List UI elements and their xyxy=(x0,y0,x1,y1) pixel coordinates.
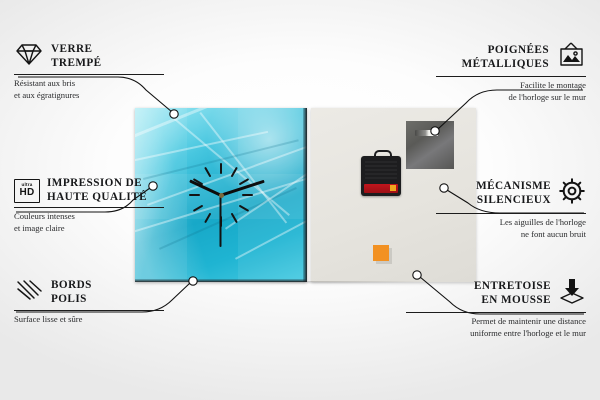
feature-title-line1: VERRE xyxy=(51,43,102,57)
feature-title-line1: MÉCANISME xyxy=(476,180,551,194)
feature-subtitle-line2: de l'horloge sur le mur xyxy=(436,92,586,104)
feature-title-line2: HAUTE QUALITÉ xyxy=(47,191,147,205)
feature-title-line2: POLIS xyxy=(51,293,92,307)
feature-verre-trempe: VERRE TREMPÉ Résistant aux bris et aux é… xyxy=(14,42,164,101)
feature-bords-polis: BORDS POLIS Surface lisse et sûre xyxy=(14,278,164,326)
feature-title-line1: IMPRESSION DE xyxy=(47,177,147,191)
feature-divider xyxy=(406,312,586,313)
polished-edge-lines-icon xyxy=(14,278,44,307)
feature-entretoise-en-mousse: ENTRETOISE EN MOUSSE Permet de maintenir… xyxy=(406,278,586,339)
feature-subtitle-line1: Les aiguilles de l'horloge xyxy=(436,217,586,229)
feature-divider xyxy=(436,213,586,214)
feature-title-line2: MÉTALLIQUES xyxy=(462,58,549,72)
feature-title-line1: POIGNÉES xyxy=(462,44,549,58)
feature-title-line1: BORDS xyxy=(51,279,92,293)
down-arrow-pad-icon xyxy=(558,278,586,309)
infographic-canvas: VERRE TREMPÉ Résistant aux bris et aux é… xyxy=(0,0,600,400)
feature-poignees-metalliques: POIGNÉES MÉTALLIQUES Facilite le montage… xyxy=(436,42,586,103)
ultra-hd-icon: ultra HD xyxy=(14,179,40,203)
feature-impression-haute-qualite: ultra HD IMPRESSION DE HAUTE QUALITÉ Cou… xyxy=(14,177,164,235)
feature-subtitle-line1: Surface lisse et sûre xyxy=(14,314,164,326)
feature-subtitle-line2: et aux égratignures xyxy=(14,90,164,102)
feature-subtitle-line2: uniforme entre l'horloge et le mur xyxy=(406,328,586,340)
feature-title-line1: ENTRETOISE xyxy=(474,280,551,294)
feature-divider xyxy=(436,76,586,77)
hanging-frame-icon xyxy=(556,42,586,73)
ultra-hd-icon-large-text: HD xyxy=(19,188,34,198)
feature-mecanisme-silencieux: MÉCANISME SILENCIEUX Les aiguilles de l'… xyxy=(436,177,586,240)
feature-divider xyxy=(14,310,164,311)
feature-subtitle-line2: et image claire xyxy=(14,223,164,235)
feature-subtitle-line1: Couleurs intenses xyxy=(14,211,164,223)
feature-title-line2: TREMPÉ xyxy=(51,57,102,71)
feature-subtitle-line1: Résistant aux bris xyxy=(14,78,164,90)
feature-subtitle-line1: Facilite le montage xyxy=(436,80,586,92)
feature-subtitle-line2: ne font aucun bruit xyxy=(436,229,586,241)
gear-icon xyxy=(558,177,586,210)
feature-divider xyxy=(14,207,164,208)
feature-subtitle-line1: Permet de maintenir une distance xyxy=(406,316,586,328)
diamond-icon xyxy=(14,42,44,71)
feature-divider xyxy=(14,74,164,75)
feature-title-line2: EN MOUSSE xyxy=(474,294,551,308)
feature-title-line2: SILENCIEUX xyxy=(476,194,551,208)
